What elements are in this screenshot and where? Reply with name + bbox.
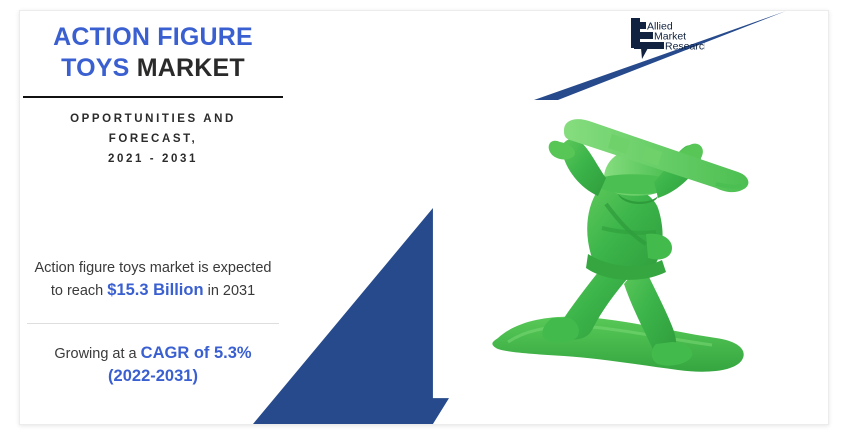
report-subtitle: OPPORTUNITIES AND FORECAST, 2021 - 2031 <box>19 98 287 169</box>
subtitle-line-2: FORECAST, <box>109 133 198 145</box>
cagr-period: (2022-2031) <box>108 367 198 385</box>
market-value-statement: Action figure toys market is expected to… <box>19 259 287 301</box>
logo-line-3: Research <box>665 41 705 53</box>
stat-trail-text: in 2031 <box>208 283 256 299</box>
cagr-lead-text: Growing at a <box>54 346 136 362</box>
infographic-root: Allied Market Research <box>0 0 847 445</box>
page-title: ACTION FIGURE TOYS MARKET <box>19 10 287 84</box>
title-plain: MARKET <box>137 54 245 82</box>
stat-value: $15.3 Billion <box>107 281 203 299</box>
subtitle-line-3: 2021 - 2031 <box>108 153 198 165</box>
toy-soldier-image <box>480 112 772 397</box>
cagr-value: CAGR of 5.3% <box>141 344 252 362</box>
title-highlight-line1: ACTION FIGURE <box>53 23 253 51</box>
text-column: ACTION FIGURE TOYS MARKET OPPORTUNITIES … <box>19 10 287 388</box>
title-highlight-line2: TOYS <box>61 54 129 82</box>
subtitle-line-1: OPPORTUNITIES AND <box>70 113 236 125</box>
stat-divider <box>27 323 279 324</box>
cagr-statement: Growing at a CAGR of 5.3% (2022-2031) <box>19 342 287 388</box>
allied-market-research-logo: Allied Market Research <box>629 16 705 64</box>
